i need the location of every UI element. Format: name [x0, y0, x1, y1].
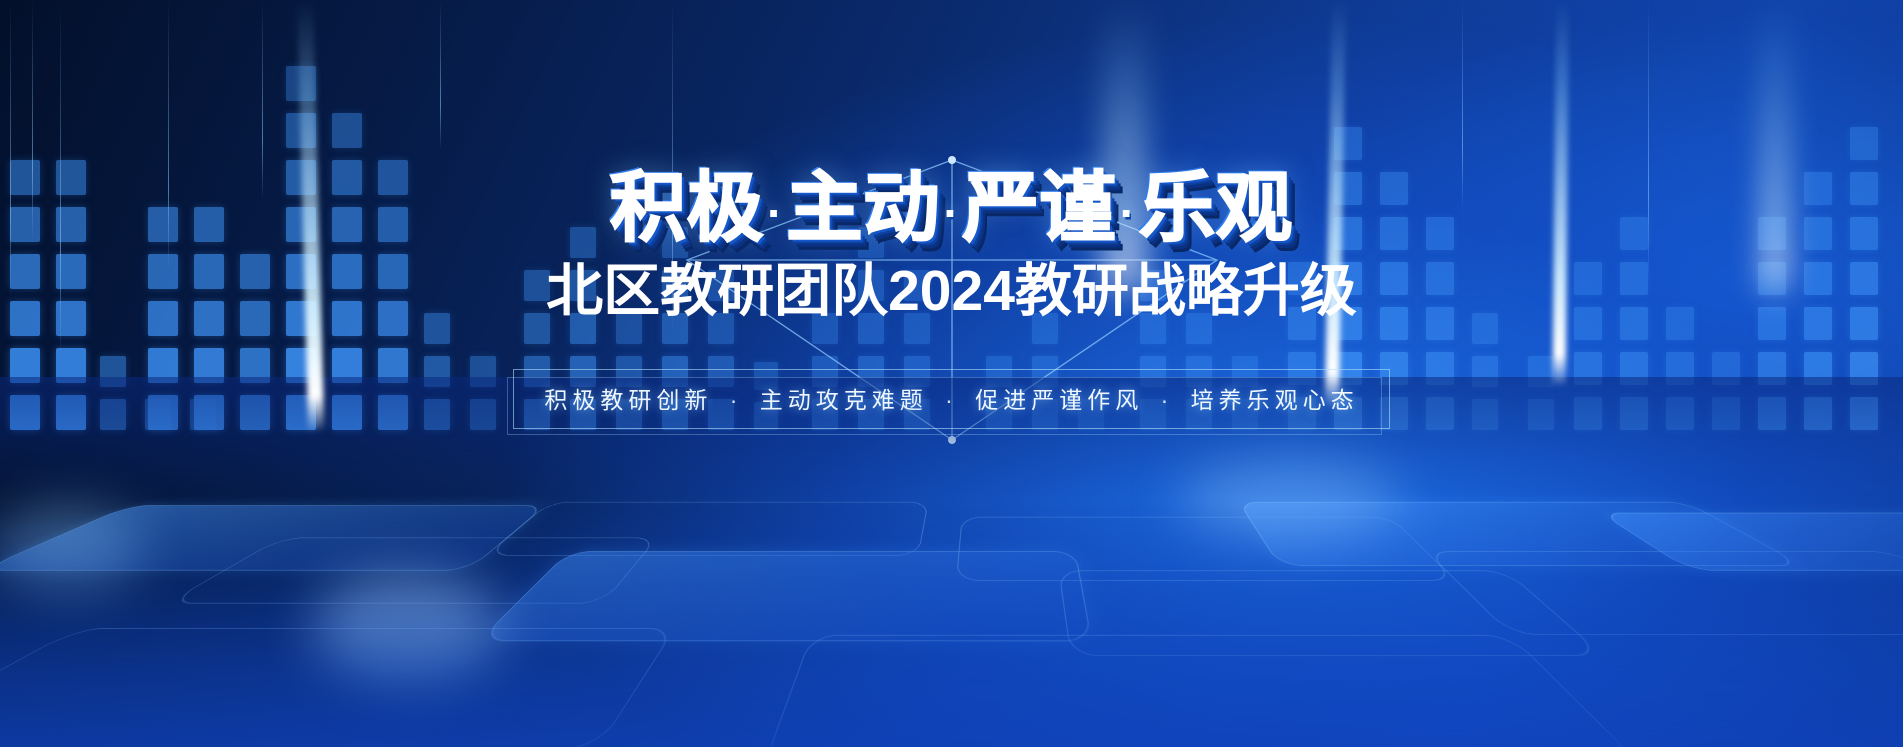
- title-separator-dot: ·: [1121, 192, 1135, 236]
- tagline-item: 培养乐观心态: [1191, 387, 1359, 413]
- tagline-box: 积极教研创新 · 主动攻克难题 · 促进严谨作风 · 培养乐观心态: [513, 369, 1389, 429]
- tagline-item: 积极教研创新: [544, 387, 712, 413]
- tagline-item: 主动攻克难题: [760, 387, 928, 413]
- tagline-text: 积极教研创新 · 主动攻克难题 · 促进严谨作风 · 培养乐观心态: [544, 381, 1358, 415]
- banner-root: 积极·主动·严谨·乐观 北区教研团队2024教研战略升级 积极教研创新 · 主动…: [0, 0, 1903, 747]
- title-word: 严谨: [963, 166, 1117, 251]
- tagline-separator: ·: [718, 387, 753, 413]
- title-separator-dot: ·: [768, 192, 782, 236]
- title-word: 积极: [610, 166, 764, 251]
- banner-main-title: 积极·主动·严谨·乐观: [610, 171, 1293, 247]
- tagline-separator: ·: [1149, 387, 1184, 413]
- banner-subtitle: 北区教研团队2024教研战略升级: [546, 263, 1357, 320]
- banner-content: 积极·主动·严谨·乐观 北区教研团队2024教研战略升级 积极教研创新 · 主动…: [0, 0, 1903, 747]
- title-separator-dot: ·: [944, 192, 958, 236]
- tagline-separator: ·: [934, 387, 969, 413]
- title-word: 乐观: [1139, 166, 1293, 251]
- title-word: 主动: [786, 166, 940, 251]
- tagline-item: 促进严谨作风: [975, 387, 1143, 413]
